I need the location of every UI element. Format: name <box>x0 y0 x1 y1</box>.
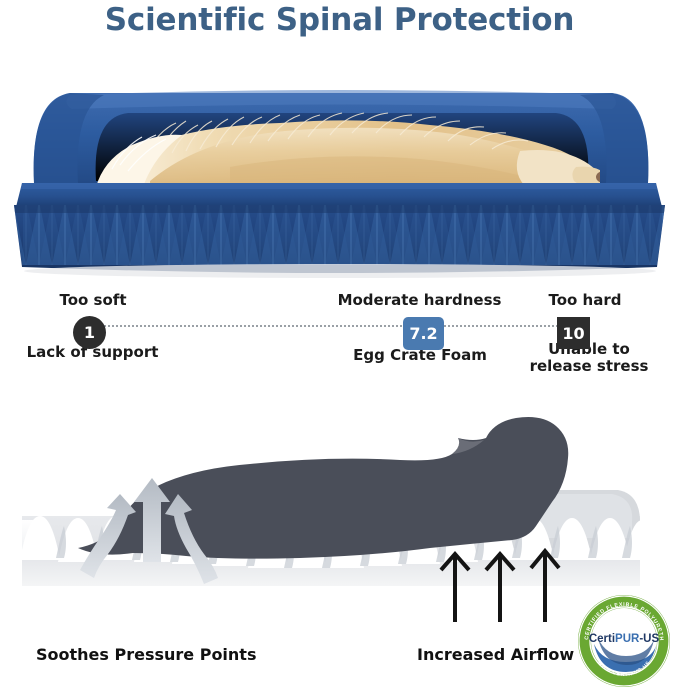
scale-track <box>92 325 582 329</box>
scale-top-label-1: Too soft <box>18 292 168 309</box>
caption-soothes-pressure-points: Soothes Pressure Points <box>36 645 256 664</box>
page-title: Scientific Spinal Protection <box>0 2 679 38</box>
scale-marker-7-2: 7.2 <box>403 317 444 350</box>
product-hero-image <box>0 55 679 285</box>
scale-marker-10: 10 <box>557 317 590 349</box>
svg-text:CertiPUR-US: CertiPUR-US <box>589 633 660 645</box>
scale-bottom-label-3-line2: release stress <box>530 357 649 375</box>
scale-top-label-3: Too hard <box>505 292 665 309</box>
caption-increased-airflow: Increased Airflow <box>417 645 574 664</box>
scale-top-label-2: Moderate hardness <box>312 292 527 309</box>
badge-brand-certi: Certi <box>589 633 615 645</box>
badge-brand-us: -US <box>639 633 659 645</box>
certipur-us-badge: CONTAINS CERTIFIED FLEXIBLE POLYURETHANE… <box>576 594 672 688</box>
scale-marker-1: 1 <box>73 316 106 349</box>
badge-brand-pur: PUR <box>615 633 640 645</box>
